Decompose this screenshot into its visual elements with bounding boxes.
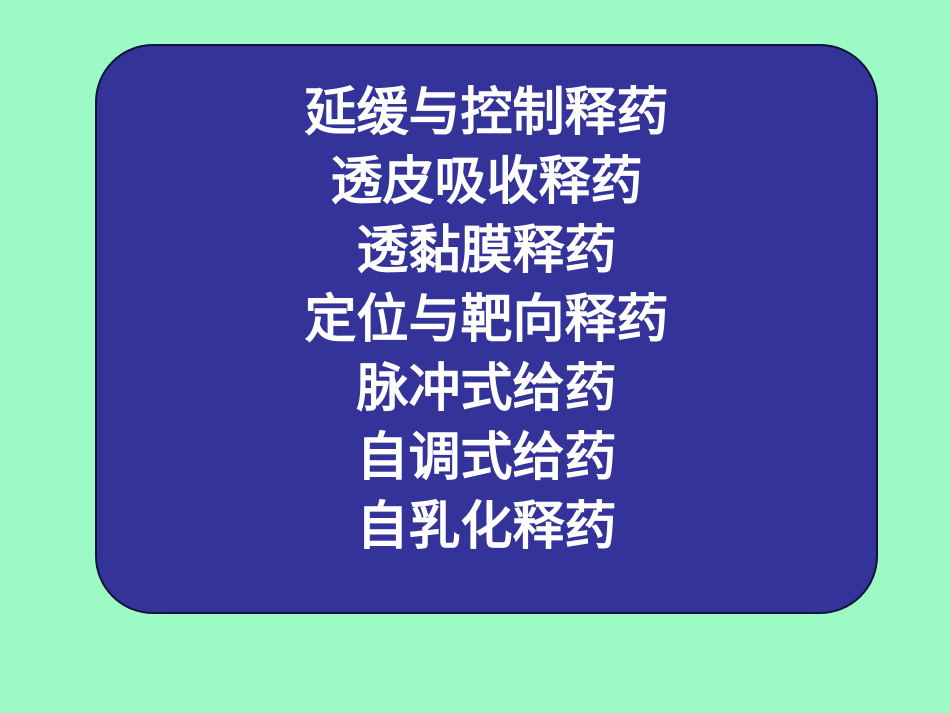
- list-item: 定位与靶向释药: [97, 286, 876, 355]
- list-item: 透黏膜释药: [97, 217, 876, 286]
- list-item: 脉冲式给药: [97, 355, 876, 424]
- bullet-list: 延缓与控制释药 透皮吸收释药 透黏膜释药 定位与靶向释药 脉冲式给药 自调式给药…: [97, 79, 876, 562]
- list-item: 延缓与控制释药: [97, 79, 876, 148]
- list-item: 自调式给药: [97, 424, 876, 493]
- list-item: 自乳化释药: [97, 493, 876, 562]
- list-item: 透皮吸收释药: [97, 148, 876, 217]
- slide-canvas: 延缓与控制释药 透皮吸收释药 透黏膜释药 定位与靶向释药 脉冲式给药 自调式给药…: [0, 0, 950, 713]
- content-panel: 延缓与控制释药 透皮吸收释药 透黏膜释药 定位与靶向释药 脉冲式给药 自调式给药…: [95, 44, 878, 614]
